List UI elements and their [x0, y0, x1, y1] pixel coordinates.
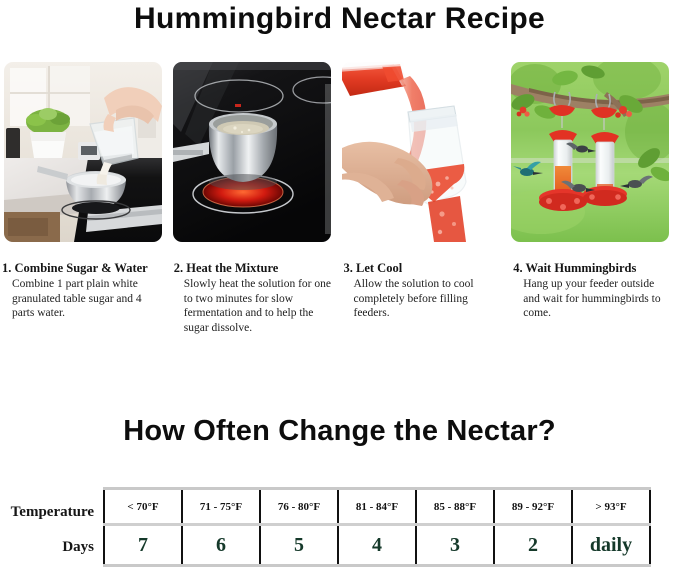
- photo-3-illustration: [342, 62, 500, 242]
- table-cell-temperature: 89 - 92°F: [494, 489, 572, 525]
- photo-heating-saucepan-on-burner: [173, 62, 331, 242]
- table-cell-days: 6: [182, 525, 260, 566]
- table-row-days: 7 6 5 4 3 2 daily: [104, 525, 650, 566]
- photo-2-illustration: [173, 62, 331, 242]
- photo-pouring-nectar-into-feeder: [342, 62, 500, 242]
- table-cell-days: 3: [416, 525, 494, 566]
- table-cell-temperature: 76 - 80°F: [260, 489, 338, 525]
- table-cell-days: 2: [494, 525, 572, 566]
- page-title: Hummingbird Nectar Recipe: [0, 2, 679, 36]
- table-cell-days: 7: [104, 525, 182, 566]
- photo-strip: [4, 62, 675, 242]
- step-item: 3. Let Cool Allow the solution to cool c…: [340, 261, 510, 351]
- table-cell-temperature: 85 - 88°F: [416, 489, 494, 525]
- step-title: 2. Heat the Mixture: [174, 261, 332, 276]
- step-title: 4. Wait Hummingbirds: [513, 261, 671, 276]
- table-cell-temperature: < 70°F: [104, 489, 182, 525]
- row-label-days: Days: [0, 539, 94, 556]
- table-cell-temperature: 81 - 84°F: [338, 489, 416, 525]
- step-body: Slowly heat the solution for one to two …: [174, 276, 332, 335]
- table-cell-temperature: > 93°F: [572, 489, 650, 525]
- step-item: 1. Combine Sugar & Water Combine 1 part …: [0, 261, 170, 351]
- photo-4-illustration: [511, 62, 669, 242]
- photo-1-illustration: [4, 62, 162, 242]
- photo-feeders-hanging-in-tree: [511, 62, 669, 242]
- step-title: 1. Combine Sugar & Water: [2, 261, 162, 276]
- step-body: Allow the solution to cool completely be…: [344, 276, 502, 321]
- table-cell-days: daily: [572, 525, 650, 566]
- step-title: 3. Let Cool: [344, 261, 502, 276]
- table-row-temperature: < 70°F 71 - 75°F 76 - 80°F 81 - 84°F 85 …: [104, 489, 650, 525]
- step-item: 2. Heat the Mixture Slowly heat the solu…: [170, 261, 340, 351]
- row-label-temperature: Temperature: [0, 504, 94, 521]
- table-cell-temperature: 71 - 75°F: [182, 489, 260, 525]
- steps-list: 1. Combine Sugar & Water Combine 1 part …: [0, 261, 679, 351]
- nectar-change-table: < 70°F 71 - 75°F 76 - 80°F 81 - 84°F 85 …: [103, 487, 651, 567]
- step-body: Combine 1 part plain white granulated ta…: [2, 276, 162, 321]
- table-cell-days: 4: [338, 525, 416, 566]
- section-title: How Often Change the Nectar?: [0, 415, 679, 448]
- step-item: 4. Wait Hummingbirds Hang up your feeder…: [509, 261, 679, 351]
- photo-pouring-sugar-into-saucepan: [4, 62, 162, 242]
- table-cell-days: 5: [260, 525, 338, 566]
- step-body: Hang up your feeder outside and wait for…: [513, 276, 671, 321]
